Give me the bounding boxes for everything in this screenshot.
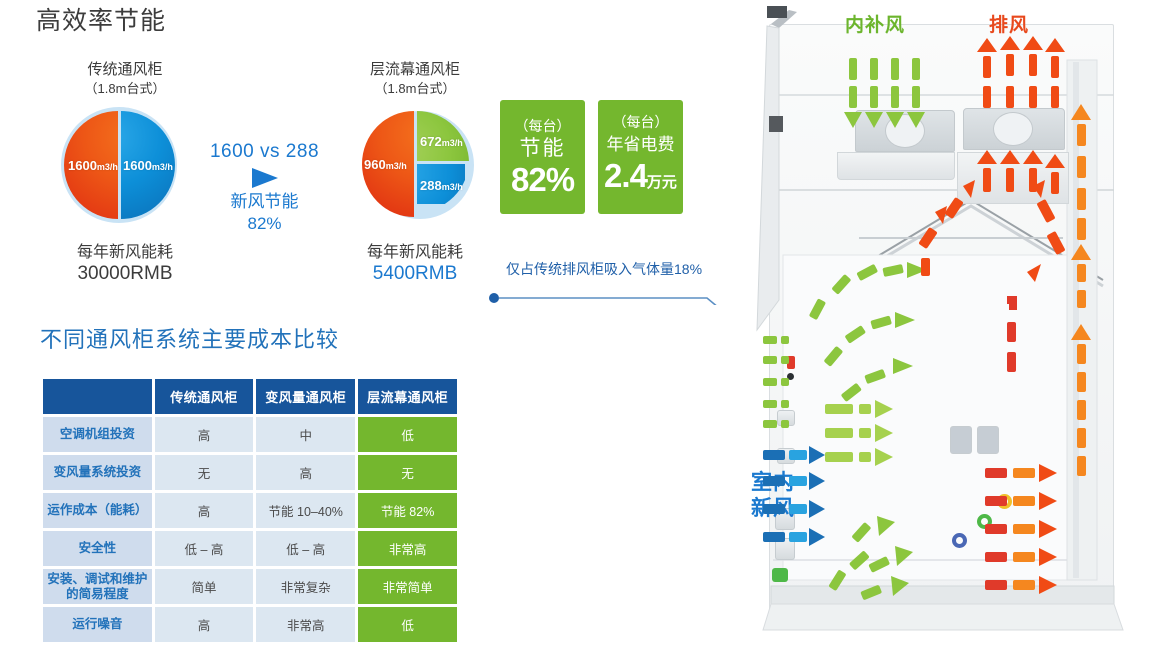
room-air-arrows-icon	[745, 0, 1149, 660]
cell-safety-laminar: 非常高	[358, 531, 457, 566]
cell-hvac-vav: 中	[256, 417, 355, 452]
comparison-caption: 新风节能	[197, 191, 332, 213]
comparison-percent: 82%	[197, 213, 332, 235]
cell-vavinv-laminar: 无	[358, 455, 457, 490]
cell-install-traditional: 简单	[155, 569, 254, 604]
savings-badges: （每台） 节能 82% （每台） 年省电费 2.4万元	[500, 100, 683, 214]
badge-energy-saving-value: 82%	[511, 162, 574, 198]
table-header-row: 传统通风柜 变风量通风柜 层流幕通风柜	[43, 379, 457, 414]
right-pie-label-fresh: 288m3/h	[420, 178, 463, 193]
fume-hood-illustration: 内补风 排风 室内 新风	[745, 0, 1149, 660]
table-row: 空调机组投资 高 中 低	[43, 417, 457, 452]
right-chart-footer-value: 5400RMB	[320, 263, 510, 284]
cell-vavinv-traditional: 无	[155, 455, 254, 490]
left-pie-label-exhaust: 1600m3/h	[68, 158, 118, 173]
comparison-block: 1600 vs 288 新风节能 82%	[197, 140, 332, 235]
right-chart-subtitle: （1.8m台式）	[320, 79, 510, 98]
table-row: 安装、调试和维护的简易程度 简单 非常复杂 非常简单	[43, 569, 457, 604]
cell-hvac-traditional: 高	[155, 417, 254, 452]
badge-yearly-savings-value: 2.4万元	[604, 158, 677, 201]
row-head-operating-cost: 运作成本（能耗）	[43, 493, 152, 528]
cell-install-vav: 非常复杂	[256, 569, 355, 604]
right-chart-footer: 每年新风能耗 5400RMB	[320, 242, 510, 284]
left-chart-subtitle: （1.8m台式）	[30, 79, 220, 98]
row-head-noise: 运行噪音	[43, 607, 152, 642]
row-head-install-maintenance: 安装、调试和维护的简易程度	[43, 569, 152, 604]
left-chart-footer-value: 30000RMB	[30, 263, 220, 284]
row-head-vav-investment: 变风量系统投资	[43, 455, 152, 490]
table-row: 变风量系统投资 无 高 无	[43, 455, 457, 490]
right-pie-chart: 960m3/h 672m3/h 288m3/h	[320, 106, 510, 224]
page-title: 高效率节能	[36, 8, 166, 34]
table-row: 运作成本（能耗） 高 节能 10–40% 节能 82%	[43, 493, 457, 528]
arrow-right-icon	[252, 168, 278, 188]
cell-install-laminar: 非常简单	[358, 569, 457, 604]
right-chart-block: 层流幕通风柜 （1.8m台式） 960m3/h 672m3/h	[320, 60, 510, 284]
badge-yearly-savings: （每台） 年省电费 2.4万元	[598, 100, 683, 214]
badge-energy-saving-mid: 节能	[520, 136, 566, 162]
table-section-title: 不同通风柜系统主要成本比较	[40, 322, 339, 354]
cell-hvac-laminar: 低	[358, 417, 457, 452]
callout-annotation: 仅占传统排风柜吸入气体量18%	[488, 259, 728, 304]
right-chart-caption: 层流幕通风柜 （1.8m台式）	[320, 60, 510, 98]
right-chart-footer-label: 每年新风能耗	[320, 242, 510, 263]
cell-opcost-laminar: 节能 82%	[358, 493, 457, 528]
cell-vavinv-vav: 高	[256, 455, 355, 490]
row-head-safety: 安全性	[43, 531, 152, 566]
left-chart-footer-label: 每年新风能耗	[30, 242, 220, 263]
cell-noise-vav: 非常高	[256, 607, 355, 642]
comparison-ratio: 1600 vs 288	[197, 140, 332, 164]
table-row: 安全性 低 – 高 低 – 高 非常高	[43, 531, 457, 566]
cost-comparison-table: 传统通风柜 变风量通风柜 层流幕通风柜 空调机组投资 高 中 低 变风量系统投资…	[40, 376, 460, 645]
right-chart-title: 层流幕通风柜	[320, 60, 510, 79]
cell-noise-traditional: 高	[155, 607, 254, 642]
table-row: 运行噪音 高 非常高 低	[43, 607, 457, 642]
badge-yearly-savings-top: （每台）	[613, 113, 669, 131]
table-col-blank	[43, 379, 152, 414]
badge-energy-saving-top: （每台）	[515, 117, 571, 135]
left-pie-label-supply: 1600m3/h	[123, 158, 173, 173]
left-chart-caption: 传统通风柜 （1.8m台式）	[30, 60, 220, 98]
cell-safety-vav: 低 – 高	[256, 531, 355, 566]
infographic-page: 高效率节能 传统通风柜 （1.8m台式） 1600m3/h 1600m3/h	[0, 0, 1149, 660]
right-pie-label-recirc: 960m3/h	[364, 157, 407, 172]
cell-noise-laminar: 低	[358, 607, 457, 642]
left-pie-chart: 1600m3/h 1600m3/h	[30, 106, 220, 224]
left-chart-block: 传统通风柜 （1.8m台式） 1600m3/h 1600m3/h 每年新风能耗 …	[30, 60, 220, 284]
page-header: 高效率节能	[16, 8, 166, 34]
cell-safety-traditional: 低 – 高	[155, 531, 254, 566]
left-chart-footer: 每年新风能耗 30000RMB	[30, 242, 220, 284]
left-chart-title: 传统通风柜	[30, 60, 220, 79]
badge-energy-saving: （每台） 节能 82%	[500, 100, 585, 214]
table-col-traditional: 传统通风柜	[155, 379, 254, 414]
badge-yearly-savings-mid: 年省电费	[607, 132, 675, 158]
callout-leader-line-icon	[488, 275, 728, 305]
table-col-vav: 变风量通风柜	[256, 379, 355, 414]
cell-opcost-vav: 节能 10–40%	[256, 493, 355, 528]
row-head-hvac-investment: 空调机组投资	[43, 417, 152, 452]
cell-opcost-traditional: 高	[155, 493, 254, 528]
table-col-laminar: 层流幕通风柜	[358, 379, 457, 414]
brand-mark-icon	[16, 9, 27, 33]
right-pie-label-supply: 672m3/h	[420, 134, 463, 149]
